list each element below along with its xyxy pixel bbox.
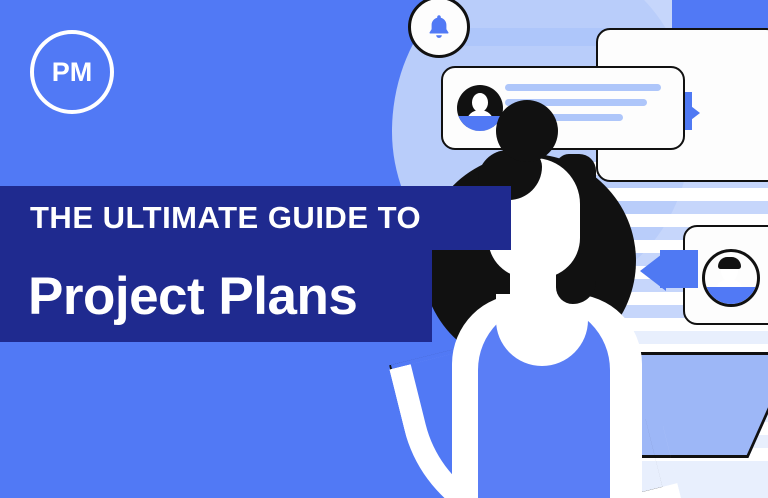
hero-banner-image: THE ULTIMATE GUIDE TO Project Plans PM — [0, 0, 768, 498]
pm-logo-text: PM — [52, 57, 93, 88]
pm-logo[interactable]: PM — [30, 30, 114, 114]
title-kicker: THE ULTIMATE GUIDE TO — [30, 186, 500, 250]
page-title: Project Plans — [28, 250, 428, 342]
bell-icon — [426, 13, 452, 41]
person-illustration — [400, 118, 730, 498]
